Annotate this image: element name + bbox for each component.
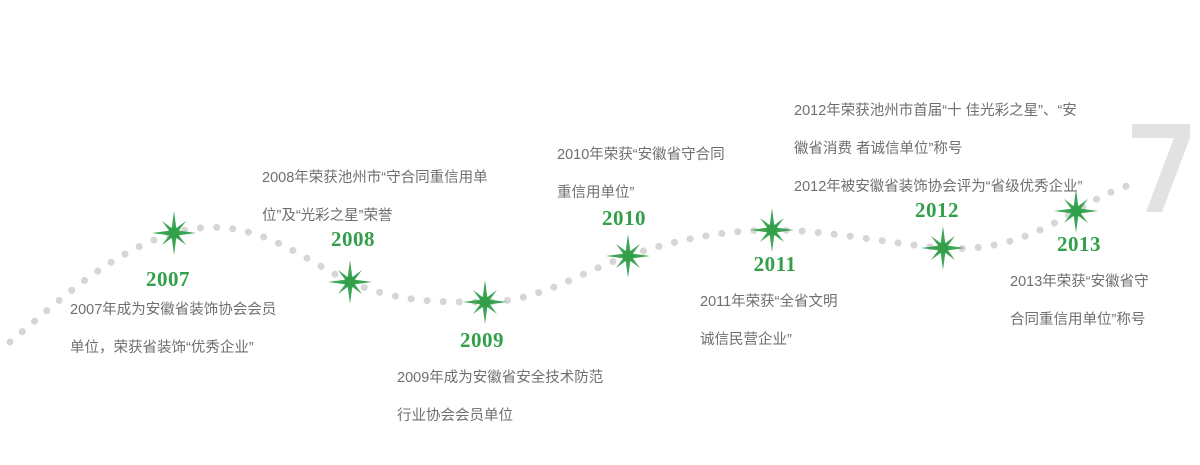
description-line: 2009年成为安徽省安全技术防范 [397, 359, 603, 397]
description-line: 2011年荣获“全省文明 [700, 283, 838, 321]
star-burst-icon-2013 [1053, 188, 1099, 234]
description-line: 合同重信用单位”称号 [1010, 301, 1149, 339]
star-burst-icon-2007 [151, 210, 197, 256]
year-label-2013: 2013 [1057, 232, 1101, 257]
star-burst-icon-2011 [749, 207, 795, 253]
description-line: 2012年荣获池州市首届“十 佳光彩之星”、“安 [794, 92, 1082, 130]
description-line: 2013年荣获“安徽省守 [1010, 263, 1149, 301]
decorative-seven-shape [1128, 112, 1198, 217]
description-line: 诚信民营企业” [700, 321, 838, 359]
milestone-description-2009: 2009年成为安徽省安全技术防范行业协会会员单位 [397, 359, 603, 435]
description-line: 单位，荣获省装饰“优秀企业” [70, 329, 276, 367]
year-label-2009: 2009 [460, 328, 504, 353]
description-line: 位”及“光彩之星”荣誉 [262, 197, 488, 235]
description-line: 2008年荣获池州市“守合同重信用单 [262, 159, 488, 197]
description-line: 2007年成为安徽省装饰协会会员 [70, 291, 276, 329]
star-burst-icon-2010 [605, 233, 651, 279]
description-line: 重信用单位” [557, 174, 725, 212]
milestone-description-2011: 2011年荣获“全省文明诚信民营企业” [700, 283, 838, 359]
description-line: 2012年被安徽省装饰协会评为“省级优秀企业” [794, 168, 1082, 206]
milestone-description-2013: 2013年荣获“安徽省守合同重信用单位”称号 [1010, 263, 1149, 339]
milestone-description-2010: 2010年荣获“安徽省守合同重信用单位” [557, 136, 725, 212]
timeline-infographic: 20072007年成为安徽省装饰协会会员单位，荣获省装饰“优秀企业” 20082… [0, 0, 1200, 465]
star-burst-icon-2012 [920, 225, 966, 271]
milestone-description-2007: 2007年成为安徽省装饰协会会员单位，荣获省装饰“优秀企业” [70, 291, 276, 367]
milestone-description-2008: 2008年荣获池州市“守合同重信用单位”及“光彩之星”荣誉 [262, 159, 488, 235]
milestone-description-2012: 2012年荣获池州市首届“十 佳光彩之星”、“安徽省消费 者诚信单位”称号201… [794, 92, 1082, 206]
description-line: 行业协会会员单位 [397, 397, 603, 435]
star-burst-icon-2008 [327, 259, 373, 305]
description-line: 2010年荣获“安徽省守合同 [557, 136, 725, 174]
year-label-2011: 2011 [754, 252, 797, 277]
description-line: 徽省消费 者诚信单位”称号 [794, 130, 1082, 168]
year-label-2007: 2007 [146, 267, 190, 292]
star-burst-icon-2009 [462, 279, 508, 325]
